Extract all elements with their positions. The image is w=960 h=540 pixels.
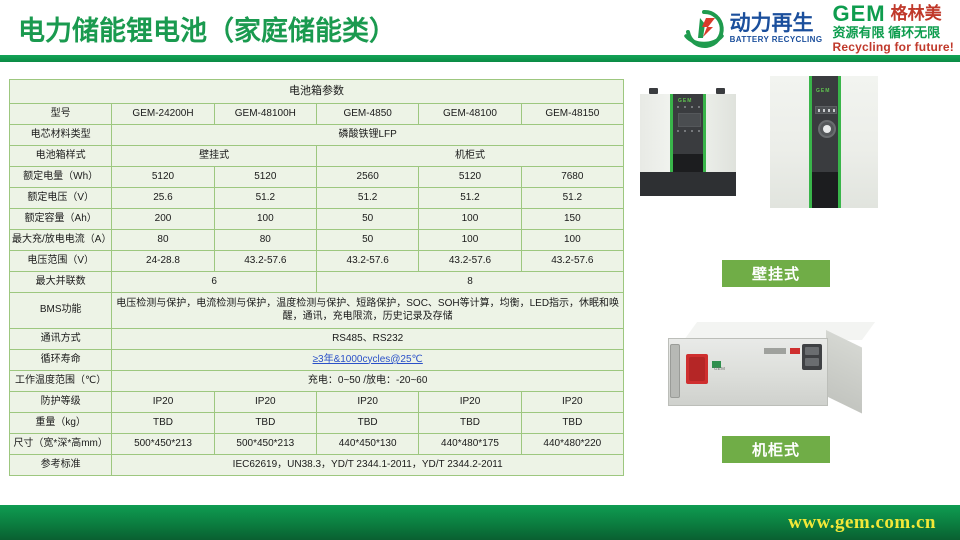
cell-model-5: GEM-48150: [521, 104, 623, 125]
cell-weight-3: TBD: [316, 413, 418, 434]
cell-capacity-3: 50: [316, 209, 418, 230]
table-row: 最大并联数 6 8: [10, 272, 624, 293]
row-label: 循环寿命: [10, 350, 112, 371]
row-label: 电芯材料类型: [10, 125, 112, 146]
cell-dim-1: 500*450*213: [112, 434, 214, 455]
green-stripe-left: [809, 76, 812, 208]
row-label: 尺寸（宽*深*高mm）: [10, 434, 112, 455]
unit-brand-mark: GEM: [678, 98, 692, 104]
cell-energy-1: 5120: [112, 167, 214, 188]
table-row: 电压范围（V） 24-28.8 43.2-57.6 43.2-57.6 43.2…: [10, 251, 624, 272]
cell-energy-2: 5120: [214, 167, 316, 188]
cell-communication: RS485、RS232: [112, 329, 624, 350]
gem-slogan-cn: 资源有限 循环无限: [832, 26, 940, 40]
cell-capacity-2: 100: [214, 209, 316, 230]
green-stripe-right: [838, 76, 841, 208]
unit-base: [640, 172, 736, 196]
row-label: 工作温度范围（℃）: [10, 371, 112, 392]
table-row: 最大充/放电电流（A） 80 80 50 100 100: [10, 230, 624, 251]
cell-energy-4: 5120: [419, 167, 521, 188]
power-button-icon: [818, 120, 836, 138]
cell-ip-3: IP20: [316, 392, 418, 413]
cell-current-4: 100: [419, 230, 521, 251]
row-label: 通讯方式: [10, 329, 112, 350]
row-label: 最大并联数: [10, 272, 112, 293]
cell-ip-1: IP20: [112, 392, 214, 413]
cell-cell-material: 磷酸铁锂LFP: [112, 125, 624, 146]
row-label: 重量（kg）: [10, 413, 112, 434]
recycle-arrow-logo-icon: [682, 6, 726, 50]
cell-weight-5: TBD: [521, 413, 623, 434]
row-label: 电压范围（V）: [10, 251, 112, 272]
breaker-switch-red: [790, 348, 800, 354]
cell-voltage-2: 51.2: [214, 188, 316, 209]
cell-weight-1: TBD: [112, 413, 214, 434]
button-row: [677, 130, 700, 133]
cell-dim-3: 440*450*130: [316, 434, 418, 455]
product-image-panel: GEM GEM 壁挂式 GEM 机柜式: [630, 72, 954, 497]
status-led-row: [815, 106, 837, 114]
cell-parallel-rack: 8: [316, 272, 623, 293]
cell-model-2: GEM-48100H: [214, 104, 316, 125]
switch-panel: [764, 348, 786, 354]
dongli-zaisheng-logo: 动力再生 BATTERY RECYCLING: [682, 6, 823, 50]
table-row: 重量（kg） TBD TBD TBD TBD TBD: [10, 413, 624, 434]
table-row: 防护等级 IP20 IP20 IP20 IP20 IP20: [10, 392, 624, 413]
cell-vrange-5: 43.2-57.6: [521, 251, 623, 272]
table-body: 电池箱参数 型号 GEM-24200H GEM-48100H GEM-4850 …: [10, 80, 624, 476]
rack-mount-type-label: 机柜式: [722, 436, 830, 463]
unit-center-dark: [812, 172, 838, 208]
power-terminal-red: [686, 354, 708, 384]
dongli-zaisheng-cn: 动力再生: [730, 13, 823, 34]
unit-side-face: [826, 330, 862, 414]
row-label: 防护等级: [10, 392, 112, 413]
gem-cn-name: 格林美: [891, 5, 942, 23]
cell-vrange-1: 24-28.8: [112, 251, 214, 272]
row-label: 电池箱样式: [10, 146, 112, 167]
cell-model-4: GEM-48100: [419, 104, 521, 125]
cell-current-1: 80: [112, 230, 214, 251]
cycle-life-link[interactable]: ≥3年&1000cycles@25℃: [313, 354, 423, 365]
cell-dim-2: 500*450*213: [214, 434, 316, 455]
cell-voltage-5: 51.2: [521, 188, 623, 209]
green-stripe-left: [670, 94, 673, 172]
row-label: 参考标准: [10, 455, 112, 476]
cell-vrange-4: 43.2-57.6: [419, 251, 521, 272]
row-label: 额定电量（Wh）: [10, 167, 112, 188]
table-row: 循环寿命 ≥3年&1000cycles@25℃: [10, 350, 624, 371]
gem-slogan-en: Recycling for future!: [832, 41, 954, 54]
company-website-url[interactable]: www.gem.com.cn: [788, 512, 936, 534]
cell-current-3: 50: [316, 230, 418, 251]
page-title: 电力储能锂电池（家庭储能类）: [18, 9, 396, 48]
cell-current-5: 100: [521, 230, 623, 251]
gem-logo-row: GEM 格林美: [832, 2, 941, 25]
logo-group: 动力再生 BATTERY RECYCLING GEM 格林美 资源有限 循环无限…: [682, 3, 954, 53]
table-row: 参考标准 IEC62619，UN38.3，YD/T 2344.1-2011，YD…: [10, 455, 624, 476]
cell-voltage-3: 51.2: [316, 188, 418, 209]
unit-center-dark: [673, 154, 703, 172]
connector-block: [802, 344, 822, 370]
cell-weight-4: TBD: [419, 413, 521, 434]
table-row: 电芯材料类型 磷酸铁锂LFP: [10, 125, 624, 146]
table-title: 电池箱参数: [10, 80, 624, 104]
table-row: 尺寸（宽*深*高mm） 500*450*213 500*450*213 440*…: [10, 434, 624, 455]
cell-temp-range: 充电：0~50 /放电：-20~60: [112, 371, 624, 392]
cell-style-rack: 机柜式: [316, 146, 623, 167]
wall-mount-type-label: 壁挂式: [722, 260, 830, 287]
cell-model-1: GEM-24200H: [112, 104, 214, 125]
header-divider: [0, 55, 960, 62]
wall-mount-battery-image-a: GEM: [640, 84, 736, 202]
row-label: 型号: [10, 104, 112, 125]
gem-logo: GEM 格林美 资源有限 循环无限 Recycling for future!: [832, 2, 954, 53]
cell-dim-5: 440*480*220: [521, 434, 623, 455]
page-header: 电力储能锂电池（家庭储能类） 动力再生 BATTERY RECYCLING GE…: [0, 0, 960, 62]
cell-weight-2: TBD: [214, 413, 316, 434]
table-title-row: 电池箱参数: [10, 80, 624, 104]
cell-energy-3: 2560: [316, 167, 418, 188]
unit-front-label: GEM: [714, 366, 725, 371]
cell-dim-4: 440*480*175: [419, 434, 521, 455]
unit-brand-mark: GEM: [816, 88, 830, 94]
gem-letters: GEM: [832, 2, 885, 25]
dongli-zaisheng-en: BATTERY RECYCLING: [730, 36, 823, 44]
table-row: 额定电压（V） 25.6 51.2 51.2 51.2 51.2: [10, 188, 624, 209]
table-row: 额定电量（Wh） 5120 5120 2560 5120 7680: [10, 167, 624, 188]
green-stripe-right: [703, 94, 706, 172]
table-row: 额定容量（Ah） 200 100 50 100 150: [10, 209, 624, 230]
cell-vrange-3: 43.2-57.6: [316, 251, 418, 272]
row-label: 最大充/放电电流（A）: [10, 230, 112, 251]
row-label: 额定容量（Ah）: [10, 209, 112, 230]
cell-standards: IEC62619，UN38.3，YD/T 2344.1-2011，YD/T 23…: [112, 455, 624, 476]
cell-capacity-1: 200: [112, 209, 214, 230]
lcd-screen: [678, 113, 701, 127]
cell-current-2: 80: [214, 230, 316, 251]
cell-capacity-4: 100: [419, 209, 521, 230]
table-row: BMS功能 电压检测与保护，电流检测与保护，温度检测与保护、短路保护，SOC、S…: [10, 293, 624, 329]
status-led-row: [677, 106, 700, 109]
cell-parallel-wall: 6: [112, 272, 317, 293]
cell-cycle-life: ≥3年&1000cycles@25℃: [112, 350, 624, 371]
cell-vrange-2: 43.2-57.6: [214, 251, 316, 272]
cell-ip-2: IP20: [214, 392, 316, 413]
row-label: 额定电压（V）: [10, 188, 112, 209]
cell-ip-5: IP20: [521, 392, 623, 413]
cell-bms-functions: 电压检测与保护，电流检测与保护，温度检测与保护、短路保护，SOC、SOH等计算，…: [112, 293, 624, 329]
page-footer: www.gem.com.cn: [0, 505, 960, 540]
table-row: 型号 GEM-24200H GEM-48100H GEM-4850 GEM-48…: [10, 104, 624, 125]
table-row: 电池箱样式 壁挂式 机柜式: [10, 146, 624, 167]
cell-style-wall: 壁挂式: [112, 146, 317, 167]
cell-ip-4: IP20: [419, 392, 521, 413]
battery-spec-table: 电池箱参数 型号 GEM-24200H GEM-48100H GEM-4850 …: [9, 79, 624, 476]
rack-mount-ear-left: [670, 344, 680, 398]
cell-energy-5: 7680: [521, 167, 623, 188]
cell-model-3: GEM-4850: [316, 104, 418, 125]
cell-voltage-1: 25.6: [112, 188, 214, 209]
dongli-zaisheng-text: 动力再生 BATTERY RECYCLING: [730, 13, 823, 44]
cell-capacity-5: 150: [521, 209, 623, 230]
cell-voltage-4: 51.2: [419, 188, 521, 209]
wall-mount-battery-image-b: GEM: [770, 76, 878, 208]
table-row: 工作温度范围（℃） 充电：0~50 /放电：-20~60: [10, 371, 624, 392]
rack-mount-battery-image: GEM: [668, 322, 878, 414]
table-row: 通讯方式 RS485、RS232: [10, 329, 624, 350]
row-label: BMS功能: [10, 293, 112, 329]
